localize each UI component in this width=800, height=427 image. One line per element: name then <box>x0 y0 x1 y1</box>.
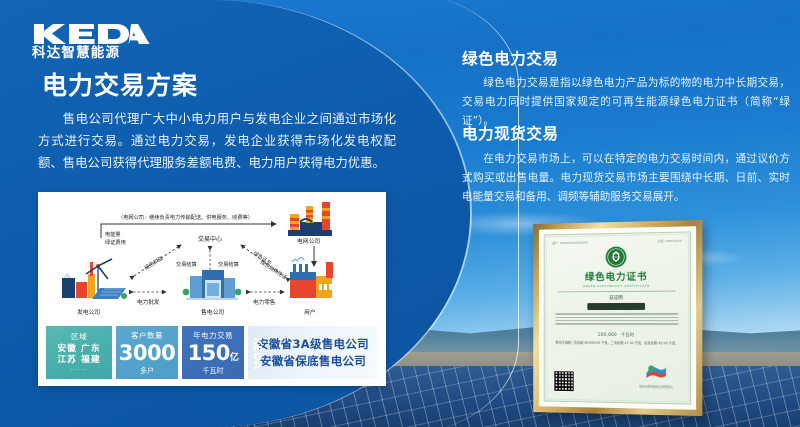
certificate-amount-unit: 千瓦时 <box>621 332 634 337</box>
diagram-node-generation: 发电公司 <box>77 308 100 316</box>
stat-region-label: 区域 <box>71 331 87 342</box>
stat-volume: 年电力交易 150亿 千瓦时 <box>182 326 244 379</box>
certificate-certify-text: 兹证明 <box>552 295 681 302</box>
certificate-org-masked: XXXXXXXXXX有限公司 <box>587 303 645 310</box>
certificate-amount: 100,000 千瓦时 <box>552 326 681 338</box>
stat-volume-label: 年电力交易 <box>193 330 233 341</box>
green-certificate-photo: 编号：XXXXXXXXXXXXXXXX 日期：XXXX-XX-XX 绿色电力证书… <box>531 222 701 414</box>
stat-volume-unit: 千瓦时 <box>203 366 224 376</box>
stat-customers-value: 3000 <box>119 343 175 364</box>
certificate-number: 编号：XXXXXXXXXXXXXXXX <box>552 241 587 246</box>
power-trading-flow-diagram: （电网公司：继续负责电力传输配送、供电服务、收费等） 电能量 绿证费用 交易中心… <box>38 192 386 327</box>
certificate-paper: 编号：XXXXXXXXXXXXXXXX 日期：XXXX-XX-XX 绿色电力证书… <box>544 231 691 404</box>
brand-logo: 科达智慧能源 <box>32 22 150 61</box>
certificate-amount-value: 100,000 <box>598 332 617 337</box>
diagram-label-cert-fee: 绿证费用 <box>105 238 126 246</box>
generation-company-icon <box>62 259 127 299</box>
certificate-stamp-text: 国家可再生能源信息管理中心 <box>639 384 673 389</box>
diagram-top-note: （电网公司：继续负责电力传输配送、供电服务、收费等） <box>118 213 253 221</box>
certificate-frame: 编号：XXXXXXXXXXXXXXXX 日期：XXXX-XX-XX 绿色电力证书… <box>533 220 702 416</box>
diagram-label-energy: 电能量 <box>105 230 121 238</box>
stat-volume-scale: 亿 <box>230 353 239 363</box>
diagram-label-green-voucher: 绿色消费凭证 <box>259 259 288 281</box>
user-factory-icon <box>290 258 333 299</box>
certificate-seal-icon <box>605 246 627 268</box>
diagram-node-grid: 电网公司 <box>297 237 320 245</box>
section-body-spot-trading: 在电力交易市场上，可以在特定的电力交易时间内，通过议价方式购买或出售电量。电力现… <box>462 150 790 207</box>
brand-name-cn: 科达智慧能源 <box>32 47 150 61</box>
certificate-mat: 编号：XXXXXXXXXXXXXXXX 日期：XXXX-XX-XX 绿色电力证书… <box>539 226 696 410</box>
certificate-logo-icon <box>644 363 668 379</box>
stat-volume-number: 150 <box>188 341 230 365</box>
stat-region-line2: 江苏 福建 <box>57 355 100 366</box>
stat-customers-unit: 多户 <box>140 366 154 376</box>
keda-watermark: KEDA <box>250 330 263 375</box>
diagram-card: （电网公司：继续负责电力传输配送、供电服务、收费等） 电能量 绿证费用 交易中心… <box>38 192 386 386</box>
keda-wordmark-icon <box>32 22 150 46</box>
stat-customers: 客户数量 3000 多户 <box>116 326 178 379</box>
certificate-stamp: 国家可再生能源信息管理中心 <box>639 363 673 389</box>
diagram-node-retail: 售电公司 <box>201 308 224 316</box>
diagram-label-wholesale: 电力批发 <box>137 298 160 306</box>
stat-region-more: ······ <box>70 367 87 374</box>
certificate-top-meta: 编号：XXXXXXXXXXXXXXXX 日期：XXXX-XX-XX <box>552 239 681 245</box>
certificate-body-lines <box>555 313 678 324</box>
diagram-node-user: 用户 <box>304 308 316 316</box>
badge-line-1: 安徽省3A级售电公司 <box>257 336 369 353</box>
diagram-label-green-rights: 绿色权益 <box>143 254 165 272</box>
certificate-org: XXXXXXXXXX有限公司 <box>552 303 681 310</box>
page-title: 电力交易方案 <box>42 73 198 98</box>
stat-customers-label: 客户数量 <box>131 330 163 341</box>
certificate-title: 绿色电力证书 <box>552 272 681 284</box>
certificate-date: 日期：XXXX-XX-XX <box>658 239 682 244</box>
page-lead-paragraph: 售电公司代理广大中小电力用户与发电企业之间通过市场化方式进行交易。通过电力交易，… <box>38 108 396 174</box>
badge-line-2: 安徽省保底售电公司 <box>260 353 366 370</box>
diagram-label-settle-right: 交易结算 <box>218 260 239 268</box>
certificate-divider <box>558 291 675 293</box>
diagram-label-settle-left: 交易结算 <box>176 260 197 268</box>
certificate-note: 相当于减排二氧化碳 99,000.00 千克，二氧化硫 47.00 千克，氮氧化… <box>554 340 679 346</box>
slide-canvas: 科达智慧能源 电力交易方案 售电公司代理广大中小电力用户与发电企业之间通过市场化… <box>0 0 800 427</box>
diagram-label-center: 交易中心 <box>198 235 222 243</box>
grid-company-icon <box>288 202 332 236</box>
certificate-subtitle: GREEN ELECTRICITY CERTIFICATE <box>552 284 681 289</box>
stat-volume-value: 150亿 <box>188 343 239 364</box>
diagram-label-retail: 电力零售 <box>253 298 276 306</box>
stat-qualification-badge: KEDA 安徽省3A级售电公司 安徽省保底售电公司 <box>248 326 378 379</box>
section-heading-spot-trading: 电力现货交易 <box>462 122 559 144</box>
stats-bar: 区域 安徽 广东 江苏 福建 ······ 客户数量 3000 多户 年电力交易… <box>46 326 378 379</box>
certificate-qr-code <box>553 370 574 392</box>
retail-company-icon <box>183 270 242 300</box>
stat-region-line1: 安徽 广东 <box>57 344 100 355</box>
stat-region: 区域 安徽 广东 江苏 福建 ······ <box>46 326 112 379</box>
section-heading-green-power: 绿色电力交易 <box>462 47 559 69</box>
